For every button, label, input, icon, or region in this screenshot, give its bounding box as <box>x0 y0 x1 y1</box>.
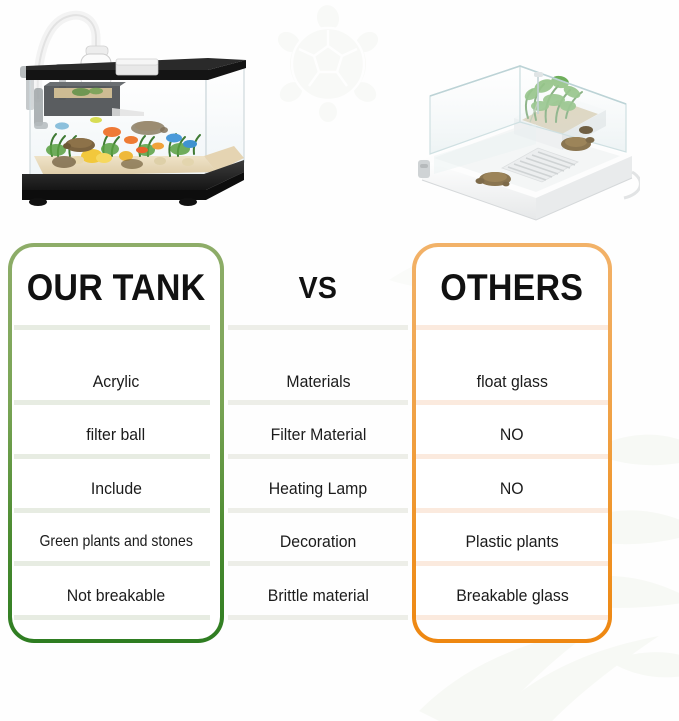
divider-segment-right <box>416 400 608 405</box>
cell-ours-text: Green plants and stones <box>39 533 192 551</box>
divider-segment-middle <box>228 400 408 405</box>
cell-others-text: NO <box>500 425 524 445</box>
cell-feature-text: Decoration <box>280 532 356 552</box>
our-tank-photo <box>8 4 258 232</box>
cell-others-text: Plastic plants <box>465 532 558 552</box>
divider-segment-left <box>14 325 210 330</box>
cell-ours-text: filter ball <box>87 425 146 445</box>
cell-others-text: NO <box>500 479 524 499</box>
header-others: OTHERS <box>412 257 612 319</box>
cell-others-text: Breakable glass <box>456 586 569 606</box>
divider-segment-right <box>416 325 608 330</box>
divider-segment-middle <box>228 325 408 330</box>
infographic-canvas: OUR TANK VS OTHERS Acrylic Materials flo… <box>0 0 679 721</box>
divider-segment-middle <box>228 454 408 459</box>
header-our-tank-label: OUR TANK <box>27 267 206 309</box>
header-vs-label: VS <box>299 270 337 306</box>
cell-ours-text: Include <box>90 479 141 499</box>
competitor-tank-photo <box>410 48 640 233</box>
header-others-label: OTHERS <box>441 267 584 309</box>
header-our-tank: OUR TANK <box>8 257 224 319</box>
divider-segment-left <box>14 615 210 620</box>
divider-segment-left <box>14 400 210 405</box>
divider-segment-right <box>416 508 608 513</box>
divider-segment-middle <box>228 508 408 513</box>
header-vs: VS <box>232 257 404 319</box>
cell-ours-text: Not breakable <box>67 586 165 606</box>
cell-ours-text: Acrylic <box>93 372 140 392</box>
divider-segment-middle <box>228 561 408 566</box>
turtle-watermark-icon <box>268 4 388 122</box>
cell-feature-text: Heating Lamp <box>269 479 367 499</box>
divider-segment-left <box>14 508 210 513</box>
divider-segment-right <box>416 561 608 566</box>
cell-feature-text: Filter Material <box>270 425 366 445</box>
divider-segment-right <box>416 454 608 459</box>
divider-segment-middle <box>228 615 408 620</box>
comparison-table: OUR TANK VS OTHERS Acrylic Materials flo… <box>0 243 679 655</box>
divider-segment-right <box>416 615 608 620</box>
divider-segment-left <box>14 561 210 566</box>
cell-feature-text: Materials <box>286 372 350 392</box>
cell-feature-text: Brittle material <box>267 586 368 606</box>
divider-segment-left <box>14 454 210 459</box>
cell-others-text: float glass <box>476 372 547 392</box>
